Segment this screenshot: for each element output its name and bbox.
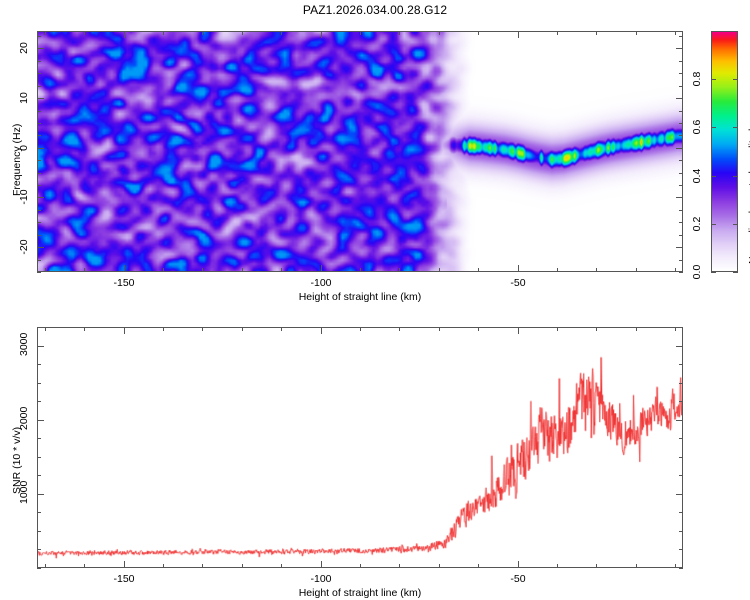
minor-tick-y [37,36,41,37]
minor-tick-y [679,549,683,550]
minor-tick-y [37,185,41,186]
major-tick-y [37,197,44,198]
minor-tick-x [202,564,203,568]
minor-tick-x [281,327,282,331]
minor-tick-x [202,31,203,35]
minor-tick-x [399,327,400,331]
minor-tick-x [596,31,597,35]
major-tick-y [37,494,44,495]
minor-tick-y [37,160,41,161]
minor-tick-y [37,73,41,74]
minor-tick-x [242,327,243,331]
major-tick-x [321,561,322,568]
minor-tick-x [281,268,282,272]
colorbar-tick [733,272,738,273]
minor-tick-x [84,564,85,568]
minor-tick-y [679,260,683,261]
major-tick-y [37,420,44,421]
minor-tick-x [360,31,361,35]
minor-tick-y [679,61,683,62]
minor-tick-y [37,383,41,384]
snr-axes [37,327,683,568]
snr-yaxis-title: SNR (10 * v/v) [11,427,23,494]
major-tick-x [124,31,125,38]
minor-tick-y [679,272,683,273]
minor-tick-y [37,475,41,476]
colorbar-tick [711,176,716,177]
major-tick-x [321,327,322,334]
spectrogram-yaxis-title: Frequency (Hz) [11,124,23,196]
minor-tick-x [84,31,85,35]
minor-tick-y [37,173,41,174]
minor-tick-y [37,61,41,62]
major-tick-y [676,494,683,495]
minor-tick-y [37,531,41,532]
major-tick-y [676,420,683,421]
minor-tick-y [679,123,683,124]
major-tick-y [676,148,683,149]
minor-tick-x [675,31,676,35]
minor-tick-y [37,549,41,550]
minor-tick-x [242,268,243,272]
minor-tick-x [202,268,203,272]
colorbar-tick-label: 0.0 [691,260,703,284]
colorbar-tick-label: 0.2 [691,212,703,236]
colorbar-tick [733,127,738,128]
minor-tick-y [37,457,41,458]
minor-tick-x [478,268,479,272]
colorbar-tick-label: 0.6 [691,115,703,139]
minor-tick-x [163,31,164,35]
minor-tick-y [679,531,683,532]
minor-tick-x [439,327,440,331]
minor-tick-x [596,327,597,331]
minor-tick-y [37,272,41,273]
colorbar-tick-label: 0.8 [691,67,703,91]
minor-tick-y [37,86,41,87]
minor-tick-y [679,210,683,211]
major-tick-y [37,48,44,49]
minor-tick-x [557,327,558,331]
figure-root: PAZ1.2026.034.00.28.G12 -150-100-50-20-1… [0,0,750,600]
colorbar-tick [733,224,738,225]
colorbar-tick [711,224,716,225]
colorbar [711,31,738,272]
figure-title: PAZ1.2026.034.00.28.G12 [0,3,750,17]
minor-tick-x [163,268,164,272]
minor-tick-y [679,457,683,458]
ytick-label: -20 [18,237,30,257]
minor-tick-x [439,564,440,568]
major-tick-y [37,98,44,99]
minor-tick-x [478,327,479,331]
minor-tick-x [360,268,361,272]
minor-tick-y [37,401,41,402]
minor-tick-y [37,364,41,365]
minor-tick-y [679,475,683,476]
minor-tick-y [37,135,41,136]
minor-tick-x [45,327,46,331]
major-tick-x [124,265,125,272]
minor-tick-y [679,438,683,439]
minor-tick-x [596,564,597,568]
spectrogram-axes [37,31,683,272]
minor-tick-x [163,564,164,568]
minor-tick-y [37,568,41,569]
spectrogram-image [38,32,682,271]
major-tick-x [321,265,322,272]
xtick-label: -100 [310,277,331,289]
minor-tick-y [679,73,683,74]
minor-tick-x [84,268,85,272]
minor-tick-y [37,235,41,236]
major-tick-y [676,247,683,248]
major-tick-x [518,327,519,334]
minor-tick-y [679,383,683,384]
minor-tick-x [163,327,164,331]
snr-line-plot [38,328,682,567]
major-tick-y [37,247,44,248]
minor-tick-x [596,268,597,272]
colorbar-tick [733,79,738,80]
minor-tick-x [202,327,203,331]
major-tick-x [518,561,519,568]
ytick-label: 20 [18,38,30,58]
minor-tick-x [675,268,676,272]
minor-tick-x [45,31,46,35]
major-tick-y [676,197,683,198]
major-tick-x [518,265,519,272]
minor-tick-x [439,31,440,35]
spectrogram-xaxis-title: Height of straight line (km) [299,291,422,303]
minor-tick-x [636,327,637,331]
xtick-label: -100 [310,573,331,585]
minor-tick-y [679,173,683,174]
minor-tick-x [636,31,637,35]
minor-tick-y [679,36,683,37]
colorbar-tick [711,272,716,273]
minor-tick-y [37,222,41,223]
minor-tick-y [679,401,683,402]
minor-tick-x [399,268,400,272]
minor-tick-x [281,564,282,568]
major-tick-x [124,561,125,568]
minor-tick-x [675,564,676,568]
minor-tick-x [557,564,558,568]
minor-tick-y [679,568,683,569]
minor-tick-x [242,31,243,35]
minor-tick-y [679,222,683,223]
ytick-label: 10 [18,88,30,108]
major-tick-x [321,31,322,38]
colorbar-tick [711,127,716,128]
minor-tick-y [679,86,683,87]
colorbar-gradient [712,32,737,271]
major-tick-x [518,31,519,38]
minor-tick-x [636,268,637,272]
major-tick-y [676,346,683,347]
minor-tick-y [679,512,683,513]
major-tick-x [124,327,125,334]
minor-tick-x [478,31,479,35]
minor-tick-x [242,564,243,568]
major-tick-y [676,48,683,49]
minor-tick-x [399,31,400,35]
colorbar-tick-label: 0.4 [691,164,703,188]
minor-tick-x [478,564,479,568]
colorbar-tick [711,79,716,80]
minor-tick-y [37,512,41,513]
minor-tick-x [439,268,440,272]
minor-tick-y [679,135,683,136]
xtick-label: -50 [510,277,525,289]
minor-tick-y [37,260,41,261]
minor-tick-x [281,31,282,35]
minor-tick-y [37,210,41,211]
minor-tick-x [675,327,676,331]
minor-tick-x [84,327,85,331]
minor-tick-y [679,111,683,112]
ytick-label: 3000 [18,336,30,356]
minor-tick-y [679,327,683,328]
minor-tick-x [360,564,361,568]
minor-tick-x [636,564,637,568]
minor-tick-x [557,268,558,272]
minor-tick-y [37,438,41,439]
colorbar-tick [733,176,738,177]
minor-tick-x [45,564,46,568]
minor-tick-y [679,364,683,365]
xtick-label: -150 [113,277,134,289]
minor-tick-x [399,564,400,568]
major-tick-y [37,148,44,149]
major-tick-y [676,98,683,99]
minor-tick-y [679,185,683,186]
xtick-label: -50 [510,573,525,585]
xtick-label: -150 [113,573,134,585]
minor-tick-x [45,268,46,272]
major-tick-y [37,346,44,347]
minor-tick-y [679,235,683,236]
minor-tick-y [37,111,41,112]
minor-tick-x [557,31,558,35]
minor-tick-y [37,327,41,328]
minor-tick-x [360,327,361,331]
snr-xaxis-title: Height of straight line (km) [299,587,422,599]
minor-tick-y [679,160,683,161]
minor-tick-y [37,123,41,124]
